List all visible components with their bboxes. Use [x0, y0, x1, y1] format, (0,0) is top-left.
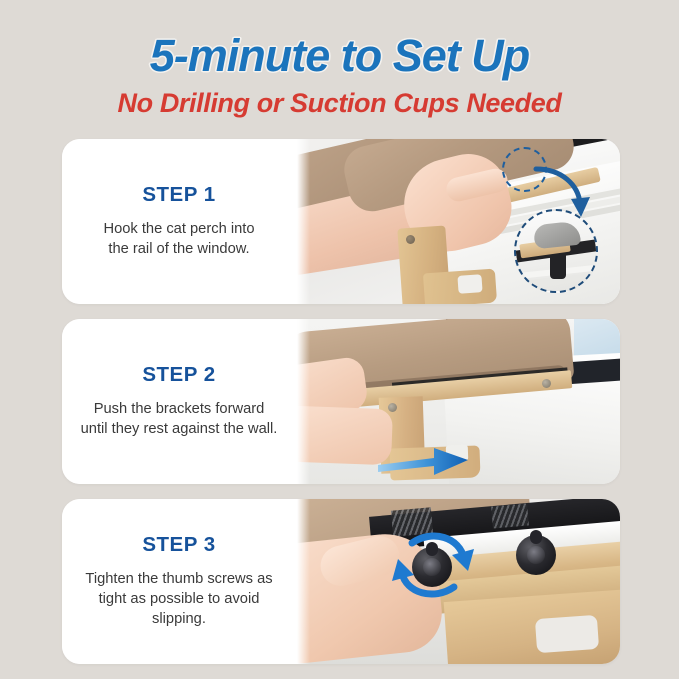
bar-screw: [482, 189, 489, 196]
board-cutout: [535, 615, 599, 653]
step-card-3: STEP 3 Tighten the thumb screws as tight…: [62, 499, 620, 664]
bracket-notch: [457, 274, 482, 294]
step-card-2: STEP 2 Push the brackets forward until t…: [62, 319, 620, 484]
page-title: 5-minute to Set Up: [0, 30, 679, 82]
step-2-title: STEP 2: [142, 363, 215, 387]
photo-left-fade: [296, 139, 310, 304]
step-1-description-line-2: the rail of the window.: [74, 240, 284, 260]
step-2-photo: [296, 319, 620, 484]
infographic-page: 5-minute to Set Up No Drilling or Suctio…: [0, 0, 679, 679]
step-card-1: STEP 1 Hook the cat perch into the rail …: [62, 139, 620, 304]
step-1-title: STEP 1: [142, 183, 215, 207]
step-2-description-line-2: until they rest against the wall.: [74, 420, 284, 440]
step-3-photo: [296, 499, 620, 664]
header: 5-minute to Set Up No Drilling or Suctio…: [0, 0, 679, 130]
step-3-text-pane: STEP 3 Tighten the thumb screws as tight…: [62, 499, 296, 664]
step-3-description-line-1: Tighten the thumb screws as: [74, 570, 284, 590]
knob-lobe: [530, 530, 542, 544]
push-direction-arrow: [378, 445, 470, 479]
step-1-text-pane: STEP 1 Hook the cat perch into the rail …: [62, 139, 296, 304]
photo-left-fade: [296, 319, 310, 484]
detail-grey-pad: [533, 221, 581, 250]
step-3-title: STEP 3: [142, 533, 215, 557]
step-3-description-line-3: slipping.: [74, 610, 284, 630]
step-1-description: Hook the cat perch into the rail of the …: [74, 220, 284, 260]
plate-screw-right: [542, 379, 551, 388]
step-2-description-line-1: Push the brackets forward: [74, 400, 284, 420]
page-subtitle: No Drilling or Suction Cups Needed: [0, 88, 679, 119]
step-3-description-line-2: tight as possible to avoid: [74, 590, 284, 610]
bracket-screw: [406, 235, 415, 244]
mesh-texture-right: [491, 503, 529, 528]
step-2-description: Push the brackets forward until they res…: [74, 400, 284, 440]
step-2-text-pane: STEP 2 Push the brackets forward until t…: [62, 319, 296, 484]
thumb-screw-right: [516, 535, 556, 575]
step-3-description: Tighten the thumb screws as tight as pos…: [74, 570, 284, 630]
plate-screw-left: [388, 403, 397, 412]
step-1-description-line-1: Hook the cat perch into: [74, 220, 284, 240]
tighten-rotation-arrows: [388, 525, 480, 607]
photo-left-fade: [296, 499, 310, 664]
callout-detail-circle: [514, 209, 598, 293]
step-1-photo: [296, 139, 620, 304]
